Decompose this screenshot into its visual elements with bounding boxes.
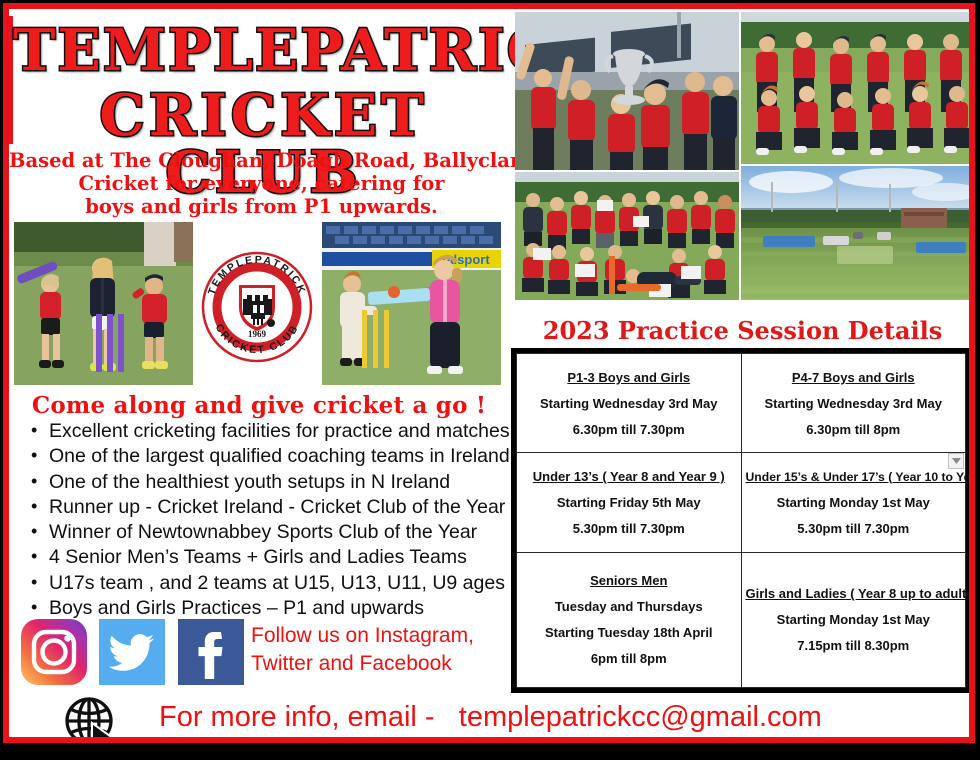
list-item: Excellent cricketing facilities for prac… bbox=[27, 419, 517, 444]
club-title-line-1: TEMPLEPATRICK bbox=[13, 22, 514, 79]
practice-session-table: P1-3 Boys and Girls Starting Wednesday 3… bbox=[511, 348, 969, 693]
practice-session-title: 2023 Practice Session Details bbox=[515, 316, 969, 345]
follow-line-2: Twitter and Facebook bbox=[251, 650, 511, 678]
session-time-line: 5.30pm till 7.30pm bbox=[746, 521, 962, 536]
club-subtitle: Based at The Cloughan, Doagh Road, Bally… bbox=[9, 149, 514, 218]
session-time-line: 6.30pm till 8pm bbox=[746, 422, 962, 437]
instagram-icon[interactable] bbox=[21, 619, 87, 685]
session-time-line: 6pm till 8pm bbox=[521, 651, 737, 666]
poster-canvas: TEMPLEPATRICK CRICKET CLUB Based at The … bbox=[9, 9, 969, 737]
list-item: U17s team , and 2 teams at U15, U13, U11… bbox=[27, 571, 517, 596]
list-item: Winner of Newtownabbey Sports Club of th… bbox=[27, 520, 517, 545]
contact-email[interactable]: templepatrickcc@gmail.com bbox=[459, 701, 822, 733]
photo-junior-group-celebrating bbox=[515, 172, 739, 300]
photo-squad-team-photo bbox=[741, 12, 969, 164]
subtitle-line-2: Cricket for everyone, catering for bbox=[9, 172, 514, 195]
follow-us-text: Follow us on Instagram, Twitter and Face… bbox=[251, 622, 511, 678]
practice-cell-p1-3: P1-3 Boys and Girls Starting Wednesday 3… bbox=[517, 354, 742, 453]
subtitle-line-3: boys and girls from P1 upwards. bbox=[9, 195, 514, 218]
list-item: Runner up - Cricket Ireland - Cricket Cl… bbox=[27, 495, 517, 520]
session-days-line: Tuesday and Thursdays bbox=[521, 599, 737, 614]
session-start-line: Starting Friday 5th May bbox=[521, 495, 737, 510]
photo-cricket-ground-view bbox=[741, 166, 969, 300]
club-crest: 1969 TEMPLEPATRICK CRICKET CLUB bbox=[195, 227, 319, 382]
session-time-line: 5.30pm till 7.30pm bbox=[521, 521, 737, 536]
contact-email-line[interactable]: For more info, email - templepatrickcc@g… bbox=[159, 701, 822, 734]
practice-cell-girls-ladies: Girls and Ladies ( Year 8 up to adults )… bbox=[741, 552, 966, 687]
club-benefits-list: Excellent cricketing facilities for prac… bbox=[27, 419, 517, 621]
list-item: 4 Senior Men’s Teams + Girls and Ladies … bbox=[27, 545, 517, 570]
globe-cursor-icon bbox=[61, 695, 125, 737]
practice-cell-seniors-men: Seniors Men Tuesday and Thursdays Starti… bbox=[517, 552, 742, 687]
practice-cell-under-15-17: Under 15’s & Under 17’s ( Year 10 to Yea… bbox=[741, 453, 966, 552]
twitter-icon[interactable] bbox=[99, 619, 165, 685]
club-headline: TEMPLEPATRICK CRICKET CLUB bbox=[9, 16, 514, 144]
crest-year: 1969 bbox=[248, 329, 267, 339]
social-icons-row bbox=[21, 619, 252, 685]
session-group-label: Seniors Men bbox=[521, 573, 737, 588]
poster-root: TEMPLEPATRICK CRICKET CLUB Based at The … bbox=[0, 0, 980, 760]
contact-prefix: For more info, email - bbox=[159, 701, 435, 733]
session-start-line: Starting Tuesday 18th April bbox=[521, 625, 737, 640]
list-item: Boys and Girls Practices – P1 and upward… bbox=[27, 596, 517, 621]
session-start-line: Starting Monday 1st May bbox=[746, 612, 962, 627]
photo-kids-practising-with-stumps bbox=[14, 222, 193, 385]
session-start-line: Starting Wednesday 3rd May bbox=[746, 396, 962, 411]
session-time-line: 6.30pm till 7.30pm bbox=[521, 422, 737, 437]
facebook-icon[interactable] bbox=[178, 619, 244, 685]
table-row: Under 13’s ( Year 8 and Year 9 ) Startin… bbox=[517, 453, 966, 552]
session-start-line: Starting Wednesday 3rd May bbox=[521, 396, 737, 411]
photo-team-lifting-trophy bbox=[515, 12, 739, 170]
list-item: One of the largest qualified coaching te… bbox=[27, 444, 517, 469]
subtitle-line-1: Based at The Cloughan, Doagh Road, Bally… bbox=[9, 149, 514, 172]
session-group-label: Girls and Ladies ( Year 8 up to adults ) bbox=[746, 586, 962, 601]
session-group-label: P1-3 Boys and Girls bbox=[521, 370, 737, 385]
practice-cell-under-13: Under 13’s ( Year 8 and Year 9 ) Startin… bbox=[517, 453, 742, 552]
follow-line-1: Follow us on Instagram, bbox=[251, 622, 511, 650]
practice-cell-p4-7: P4-7 Boys and Girls Starting Wednesday 3… bbox=[741, 354, 966, 453]
table-row: P1-3 Boys and Girls Starting Wednesday 3… bbox=[517, 354, 966, 453]
session-start-line: Starting Monday 1st May bbox=[746, 495, 962, 510]
photo-girl-batting-at-stadium: talsport bbox=[322, 222, 501, 385]
table-row: Seniors Men Tuesday and Thursdays Starti… bbox=[517, 552, 966, 687]
session-time-line: 7.15pm till 8.30pm bbox=[746, 638, 962, 653]
photo-collage bbox=[515, 12, 969, 312]
list-item: One of the healthiest youth setups in N … bbox=[27, 470, 517, 495]
session-group-label: Under 13’s ( Year 8 and Year 9 ) bbox=[521, 469, 737, 484]
session-group-label: P4-7 Boys and Girls bbox=[746, 370, 962, 385]
session-group-label: Under 15’s & Under 17’s ( Year 10 to Yea… bbox=[746, 470, 962, 484]
call-to-action-heading: Come along and give cricket a go ! bbox=[9, 392, 509, 419]
chevron-down-icon[interactable] bbox=[948, 453, 964, 469]
